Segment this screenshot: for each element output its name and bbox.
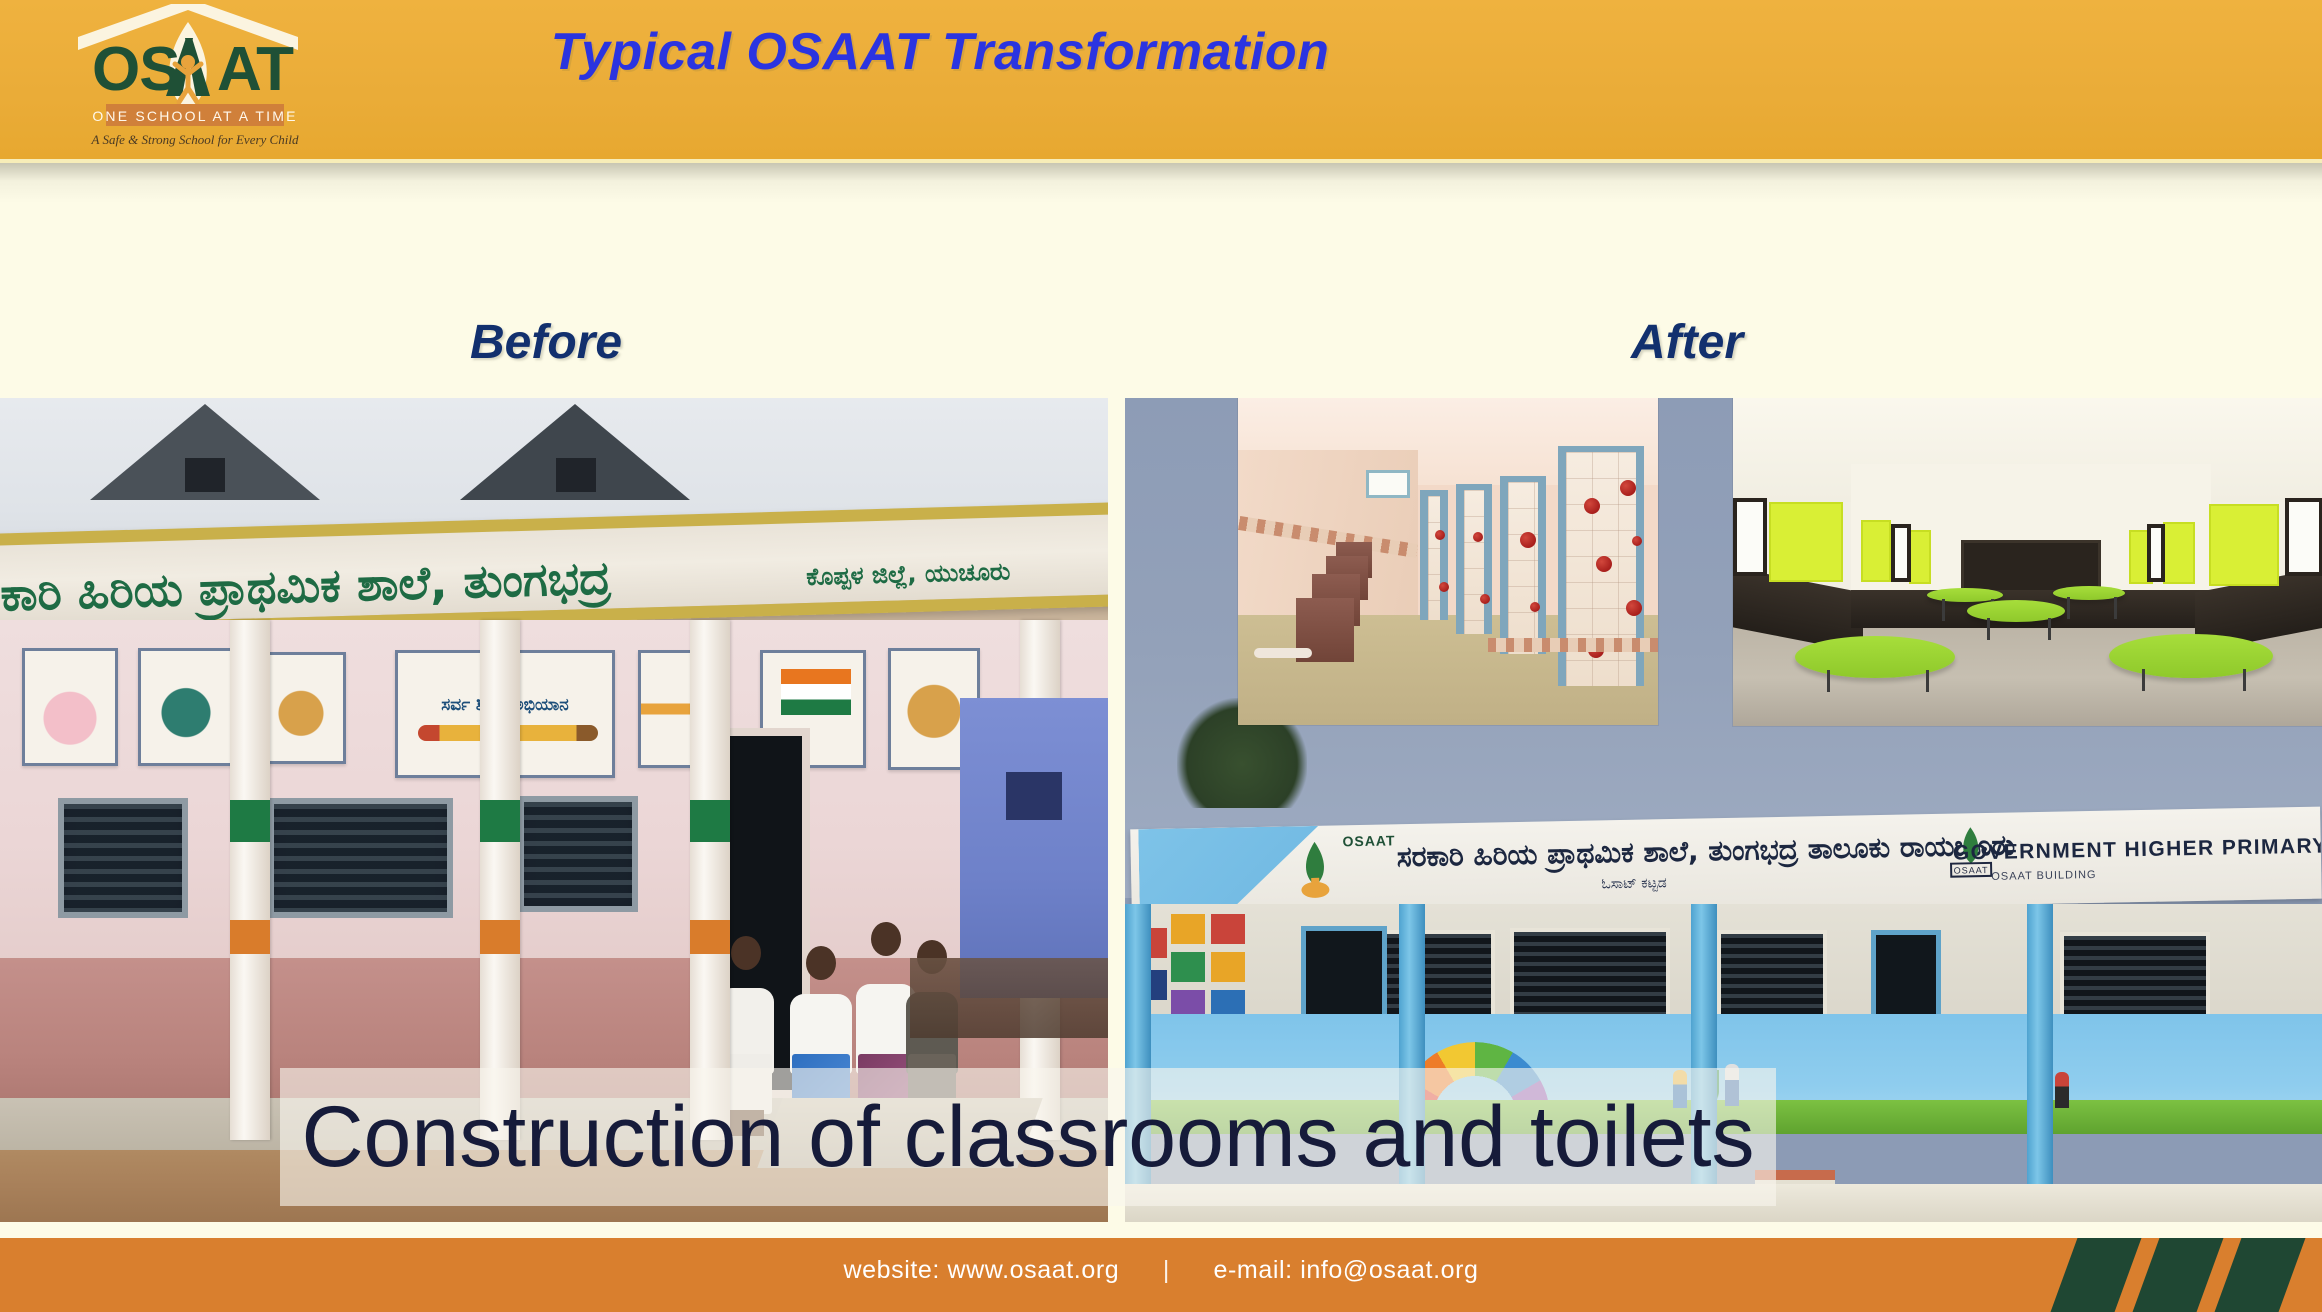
classroom-window (518, 796, 638, 912)
indian-flag-graphic (781, 669, 851, 715)
classroom-window (1510, 928, 1670, 1022)
footer-email-label[interactable]: e-mail: info@osaat.org (1213, 1256, 1478, 1284)
veranda-pillar (2027, 904, 2053, 1204)
classroom-table (1967, 600, 2065, 622)
footer-website-label[interactable]: website: www.osaat.org (843, 1256, 1119, 1284)
classroom-window (2285, 498, 2322, 576)
classroom-window (2147, 524, 2165, 582)
roof-vent (556, 458, 596, 492)
learning-chart (2209, 504, 2279, 586)
signboard-kannada-text: ಕಾರಿ ಹಿರಿಯ ಪ್ರಾಥಮಿಕ ಶಾಲೆ, ತುಂಗಭದ್ರ (0, 550, 612, 623)
veranda-pillar (690, 620, 730, 1140)
banner-english-subtext: OSAAT BUILDING (1991, 869, 2097, 883)
classroom-window (1375, 930, 1495, 1022)
footer-stripe-decoration (2022, 1238, 2322, 1312)
ventilation-window (1366, 470, 1410, 498)
toilet-stall-door (1420, 490, 1448, 620)
svg-text:A Safe & Strong School for Eve: A Safe & Strong School for Every Child (91, 132, 299, 147)
window-bars (64, 804, 182, 912)
signboard-kannada-subtext: ಕೊಪ್ಪಳ ಜಿಲ್ಲೆ, ಯುಚೂರು (806, 557, 1011, 591)
neighbouring-blue-house (960, 698, 1108, 998)
learning-chart (2163, 522, 2195, 584)
toilet-stall-door (1500, 476, 1546, 654)
learning-chart (1861, 520, 1891, 582)
classroom-table (2109, 634, 2273, 678)
classroom-window (1717, 930, 1827, 1022)
classroom-window (268, 798, 453, 918)
page-header: OS AT ONE SCHOOL AT A TIME A Safe & Stro… (0, 0, 2322, 163)
debris-pile (910, 958, 1108, 1038)
classroom-inset (1733, 398, 2322, 726)
page-title: Typical OSAAT Transformation (0, 22, 1880, 82)
banner-kannada-subtext: ಓಸಾಟ್ ಕಟ್ಟಡ (1601, 875, 1667, 892)
learning-chart (1769, 502, 1843, 582)
wall-colour-tile (1171, 914, 1205, 944)
window-bars (524, 802, 632, 906)
slide-caption: Construction of classrooms and toilets (280, 1072, 1776, 1202)
label-after: After (1631, 315, 1743, 370)
banner-logo-wordmark: OSAAT (1342, 832, 1395, 849)
header-shadow (0, 163, 2322, 203)
footer-contact: website: www.osaat.org | e-mail: info@os… (0, 1256, 2322, 1285)
classroom-window (1891, 524, 1911, 582)
wall-colour-tile (1211, 914, 1245, 944)
water-pipe (1254, 648, 1312, 658)
classroom-table (2053, 586, 2125, 600)
label-before: Before (470, 315, 622, 370)
tile-border (1488, 638, 1658, 652)
classroom-table (1795, 636, 1955, 678)
toilet-stall-door (1456, 484, 1492, 634)
wall-poster-lotus (22, 648, 118, 766)
banner-kannada-text: ಸರಕಾರಿ ಹಿರಿಯ ಪ್ರಾಥಮಿಕ ಶಾಲೆ, ತುಂಗಭದ್ರ ತಾಲ… (1396, 828, 2015, 874)
learning-chart (1909, 530, 1931, 584)
veranda-pillar (480, 620, 520, 1140)
house-window (1006, 772, 1062, 820)
svg-text:ONE SCHOOL AT A TIME: ONE SCHOOL AT A TIME (92, 108, 297, 124)
classroom-window (2060, 932, 2210, 1024)
footer-separator: | (1127, 1256, 1206, 1284)
veranda-pillar (230, 620, 270, 1140)
page-footer: website: www.osaat.org | e-mail: info@os… (0, 1238, 2322, 1312)
window-bars (274, 804, 447, 912)
classroom-table (1927, 588, 2003, 602)
wall-colour-tile (1171, 952, 1205, 982)
toilet-block-inset (1238, 398, 1658, 725)
svg-text:OSAAT: OSAAT (1954, 865, 1989, 876)
classroom-window (1733, 498, 1767, 576)
roof-vent (185, 458, 225, 492)
mural-child-figure (2055, 1072, 2069, 1108)
wall-colour-tile (1211, 952, 1245, 982)
classroom-window (58, 798, 188, 918)
wall-poster-peacock (138, 648, 234, 766)
osaat-small-logo (1282, 837, 1347, 900)
